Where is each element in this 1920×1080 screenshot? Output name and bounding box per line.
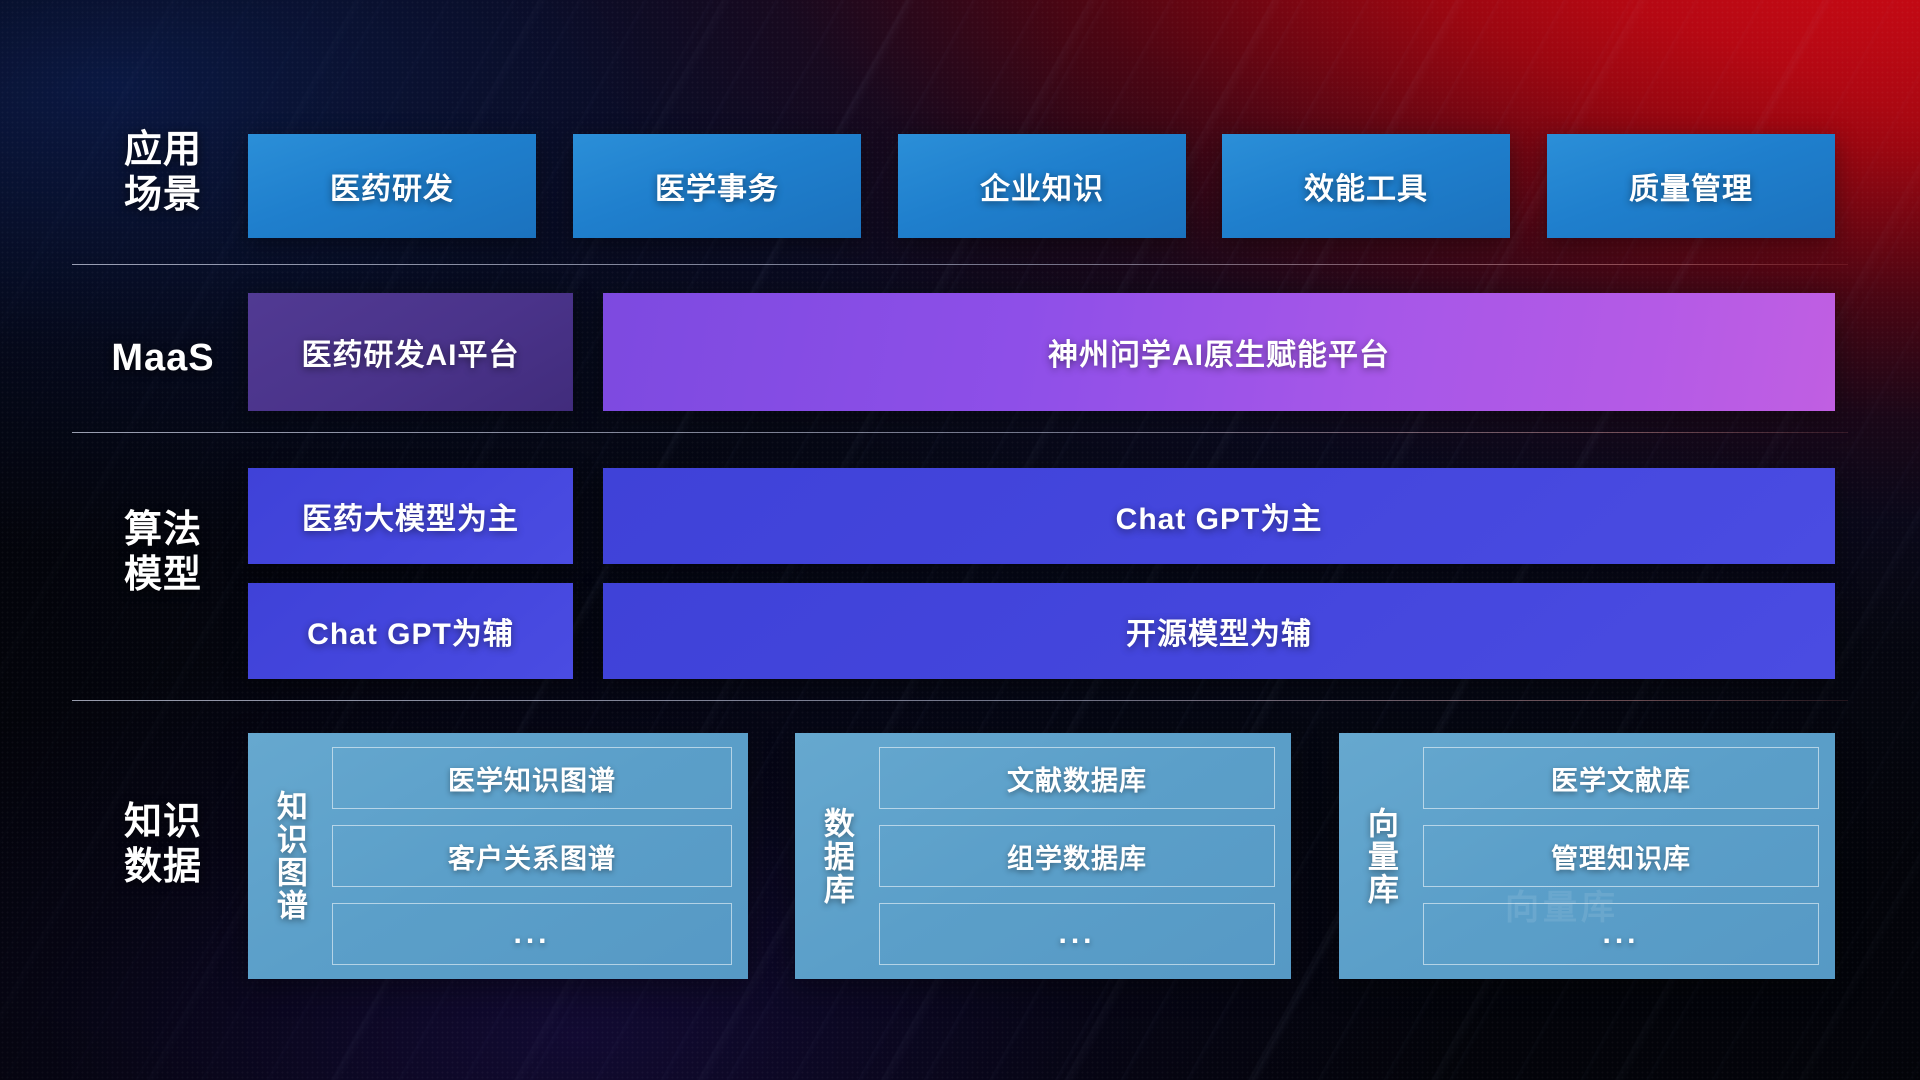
algo-box-label: Chat GPT为辅 xyxy=(307,609,514,653)
knowledge-item[interactable]: 组学数据库 xyxy=(879,825,1275,887)
knowledge-item-list: 医学知识图谱 客户关系图谱 ... xyxy=(332,747,732,965)
knowledge-item-list: 医学文献库 管理知识库 ... xyxy=(1423,747,1819,965)
knowledge-item-list: 文献数据库 组学数据库 ... xyxy=(879,747,1275,965)
row-label-line: 应用 xyxy=(88,128,238,173)
algo-box-chatgpt-secondary[interactable]: Chat GPT为辅 xyxy=(248,583,573,679)
knowledge-group-title: 知识图谱 xyxy=(258,790,320,922)
algo-box-label: 开源模型为辅 xyxy=(1126,609,1312,653)
knowledge-group-database[interactable]: 数据库 文献数据库 组学数据库 ... xyxy=(795,733,1291,979)
knowledge-item[interactable]: 管理知识库 xyxy=(1423,825,1819,887)
row-label-line: 知识 xyxy=(88,800,238,845)
row-label-line: 场景 xyxy=(88,173,238,218)
row-label-line: 数据 xyxy=(88,845,238,890)
algo-box-chatgpt-primary[interactable]: Chat GPT为主 xyxy=(603,468,1835,564)
algo-box-medicine-llm-primary[interactable]: 医药大模型为主 xyxy=(248,468,573,564)
knowledge-item-more[interactable]: ... xyxy=(1423,903,1819,965)
row-label-application-scenarios: 应用 场景 xyxy=(88,128,238,218)
row-label-knowledge-data: 知识 数据 xyxy=(88,800,238,890)
algo-box-label: 医药大模型为主 xyxy=(302,494,519,538)
architecture-slide: 应用 场景 医药研发 医学事务 企业知识 效能工具 质量管理 MaaS 医药研发… xyxy=(0,0,1920,1080)
knowledge-item[interactable]: 客户关系图谱 xyxy=(332,825,732,887)
row-label-line: MaaS xyxy=(88,336,238,381)
app-box-label: 医学事务 xyxy=(655,164,779,208)
knowledge-group-title: 数据库 xyxy=(805,807,867,906)
row-label-maas: MaaS xyxy=(88,336,238,381)
app-box-medical-affairs[interactable]: 医学事务 xyxy=(573,134,861,238)
algo-box-label: Chat GPT为主 xyxy=(1116,494,1323,538)
knowledge-group-title: 向量库 xyxy=(1349,807,1411,906)
row-label-line: 算法 xyxy=(88,508,238,553)
knowledge-item[interactable]: 医学知识图谱 xyxy=(332,747,732,809)
app-box-medicine-rd[interactable]: 医药研发 xyxy=(248,134,536,238)
app-box-label: 医药研发 xyxy=(330,164,454,208)
maas-box-shenzhou-wenxue-platform[interactable]: 神州问学AI原生赋能平台 xyxy=(603,293,1835,411)
divider-after-application xyxy=(72,264,1848,265)
knowledge-group-vector-store[interactable]: 向量库 医学文献库 管理知识库 ... xyxy=(1339,733,1835,979)
divider-after-algorithm xyxy=(72,700,1848,701)
knowledge-item-more[interactable]: ... xyxy=(332,903,732,965)
maas-box-label: 神州问学AI原生赋能平台 xyxy=(1048,330,1390,374)
app-box-quality-management[interactable]: 质量管理 xyxy=(1547,134,1835,238)
app-box-label: 质量管理 xyxy=(1629,164,1753,208)
divider-after-maas xyxy=(72,432,1848,433)
algo-box-opensource-secondary[interactable]: 开源模型为辅 xyxy=(603,583,1835,679)
maas-box-medicine-ai-platform[interactable]: 医药研发AI平台 xyxy=(248,293,573,411)
app-box-enterprise-knowledge[interactable]: 企业知识 xyxy=(898,134,1186,238)
knowledge-item[interactable]: 医学文献库 xyxy=(1423,747,1819,809)
app-box-efficiency-tools[interactable]: 效能工具 xyxy=(1222,134,1510,238)
maas-box-label: 医药研发AI平台 xyxy=(302,330,520,374)
row-label-line: 模型 xyxy=(88,553,238,598)
knowledge-group-knowledge-graph[interactable]: 知识图谱 医学知识图谱 客户关系图谱 ... xyxy=(248,733,748,979)
app-box-label: 效能工具 xyxy=(1304,164,1428,208)
app-box-label: 企业知识 xyxy=(980,164,1104,208)
knowledge-item[interactable]: 文献数据库 xyxy=(879,747,1275,809)
row-label-algorithm-model: 算法 模型 xyxy=(88,508,238,598)
knowledge-item-more[interactable]: ... xyxy=(879,903,1275,965)
architecture-diagram: 应用 场景 医药研发 医学事务 企业知识 效能工具 质量管理 MaaS 医药研发… xyxy=(0,0,1920,1080)
